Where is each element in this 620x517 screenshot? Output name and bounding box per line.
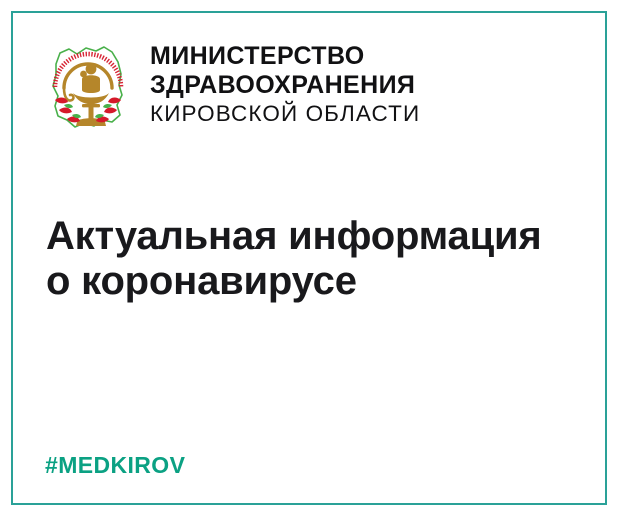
ministry-line-1: МИНИСТЕРСТВО — [150, 42, 420, 71]
ministry-emblem-icon — [42, 38, 134, 132]
ministry-line-2: ЗДРАВООХРАНЕНИЯ — [150, 71, 420, 100]
page-title: Актуальная информация о коронавирусе — [46, 214, 566, 304]
ministry-name-block: МИНИСТЕРСТВО ЗДРАВООХРАНЕНИЯ КИРОВСКОЙ О… — [150, 38, 420, 128]
hashtag-label: #MEDKIROV — [45, 452, 185, 478]
ministry-logo-lockup: МИНИСТЕРСТВО ЗДРАВООХРАНЕНИЯ КИРОВСКОЙ О… — [42, 38, 420, 132]
ministry-line-3: КИРОВСКОЙ ОБЛАСТИ — [150, 100, 420, 128]
page-title-line-2: о коронавирусе — [46, 259, 566, 304]
page-title-line-1: Актуальная информация — [46, 214, 566, 259]
announcement-card: МИНИСТЕРСТВО ЗДРАВООХРАНЕНИЯ КИРОВСКОЙ О… — [0, 0, 620, 517]
